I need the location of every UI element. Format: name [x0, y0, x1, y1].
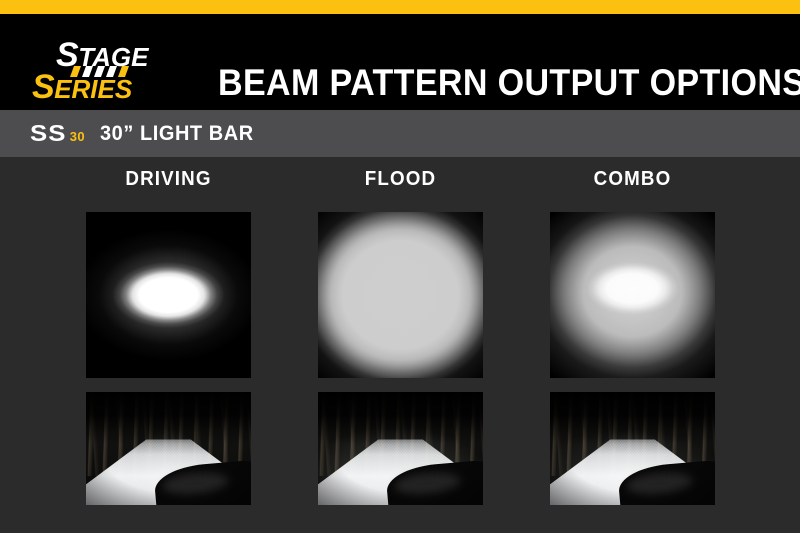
beam-glow [318, 212, 483, 378]
model-prefix: SS [30, 120, 67, 147]
road-photo-combo [550, 392, 715, 505]
beam-glow [86, 212, 251, 378]
column-title-driving: DRIVING [91, 168, 246, 191]
beam-pattern-combo [550, 212, 715, 378]
model-number: 30 [70, 129, 85, 144]
logo-series-rest: ERIES [54, 74, 132, 104]
road-vignette [550, 392, 715, 505]
product-name: 30” LIGHT BAR [100, 122, 254, 146]
road-photo-flood [318, 392, 483, 505]
column-title-combo: COMBO [555, 168, 710, 191]
top-accent-rule [0, 0, 800, 14]
beam-glow [550, 212, 715, 378]
beam-pattern-flood [318, 212, 483, 378]
road-photo-driving [86, 392, 251, 505]
page-title: BEAM PATTERN OUTPUT OPTIONS [218, 62, 800, 104]
road-vignette [86, 392, 251, 505]
logo-line-series: SERIES [32, 70, 132, 104]
beam-pattern-infographic: STAGE SERIES BEAM PATTERN OUTPUT OPTIONS… [0, 0, 800, 533]
stage-series-logo: STAGE SERIES [28, 36, 198, 114]
logo-series-cap: S [32, 68, 54, 106]
beam-pattern-driving [86, 212, 251, 378]
road-vignette [318, 392, 483, 505]
beam-columns: DRIVING FLOOD [0, 157, 800, 533]
column-title-flood: FLOOD [323, 168, 478, 191]
subheader-band: SS 30 30” LIGHT BAR [0, 110, 800, 157]
model-badge: SS 30 [30, 120, 85, 147]
header-band: STAGE SERIES BEAM PATTERN OUTPUT OPTIONS [0, 14, 800, 110]
